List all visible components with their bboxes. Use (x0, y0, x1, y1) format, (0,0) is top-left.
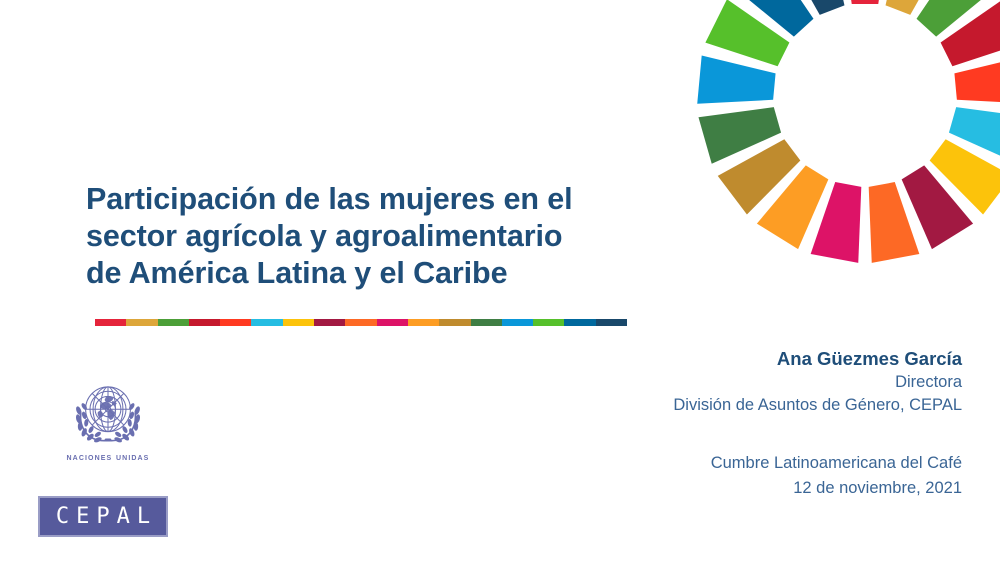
cepal-logo: CEPAL (38, 496, 168, 537)
sdg-wheel-segment-6 (949, 107, 1000, 164)
speaker-name: Ana Güezmes García (482, 347, 962, 371)
sdg-wheel-segment-5 (954, 56, 1000, 104)
sdg-rule-segment-6 (251, 319, 282, 326)
sdg-rule-segment-7 (283, 319, 314, 326)
sdg-wheel-segment-10 (811, 182, 862, 263)
sdg-wheel-segment-17 (782, 0, 844, 15)
event-date: 12 de noviembre, 2021 (482, 476, 962, 501)
sdg-rule-segment-4 (189, 319, 220, 326)
sdg-rule-segment-5 (220, 319, 251, 326)
sdg-wheel-segment-11 (757, 165, 828, 249)
sdg-wheel-segment-1 (841, 0, 889, 4)
un-emblem-icon (66, 378, 150, 450)
event-name: Cumbre Latinoamericana del Café (482, 451, 962, 476)
sdg-wheel-segment-7 (930, 139, 1000, 214)
title-line-1: Participación de las mujeres en el (86, 181, 646, 218)
sdg-rule-segment-3 (158, 319, 189, 326)
presentation-slide: Participación de las mujeres en el secto… (0, 0, 1000, 562)
sdg-wheel-segment-3 (917, 0, 995, 37)
sdg-wheel-segment-15 (705, 0, 789, 66)
sdg-rule-segment-9 (345, 319, 376, 326)
united-nations-logo: Naciones Unidas (47, 378, 169, 463)
sdg-rule-segment-11 (408, 319, 439, 326)
sdg-wheel-segment-14 (697, 56, 775, 104)
un-logo-label: Naciones Unidas (47, 452, 169, 463)
sdg-rule-segment-15 (533, 319, 564, 326)
sdg-rule-segment-10 (377, 319, 408, 326)
sdg-wheel-segment-13 (698, 107, 781, 164)
sdg-rule-segment-13 (471, 319, 502, 326)
sdg-rule-segment-16 (564, 319, 595, 326)
sdg-rule-segment-17 (596, 319, 627, 326)
sdg-wheel-segment-8 (902, 165, 973, 249)
speaker-info: Ana Güezmes García Directora División de… (482, 347, 962, 417)
sdg-wheel-segment-9 (869, 182, 920, 263)
cepal-logo-label: CEPAL (49, 504, 157, 529)
sdg-wheel-segment-12 (718, 139, 801, 214)
sdg-rule-segment-1 (95, 319, 126, 326)
sdg-rule-segment-2 (126, 319, 157, 326)
sdg-wheel-segment-2 (886, 0, 948, 15)
title-line-3: de América Latina y el Caribe (86, 255, 646, 292)
sdg-rule-segment-12 (439, 319, 470, 326)
title-line-2: sector agrícola y agroalimentario (86, 218, 646, 255)
speaker-division: División de Asuntos de Género, CEPAL (482, 394, 962, 417)
sdg-color-rule (95, 319, 627, 326)
speaker-role: Directora (482, 371, 962, 394)
sdg-wheel-segment-16 (735, 0, 813, 37)
sdg-rule-segment-8 (314, 319, 345, 326)
sdg-wheel-segment-4 (941, 0, 1000, 66)
sdg-wheel-segments (697, 0, 1000, 263)
sdg-rule-segment-14 (502, 319, 533, 326)
event-info: Cumbre Latinoamericana del Café 12 de no… (482, 451, 962, 501)
page-title: Participación de las mujeres en el secto… (86, 181, 646, 292)
sdg-wheel-logo (695, 0, 1000, 265)
